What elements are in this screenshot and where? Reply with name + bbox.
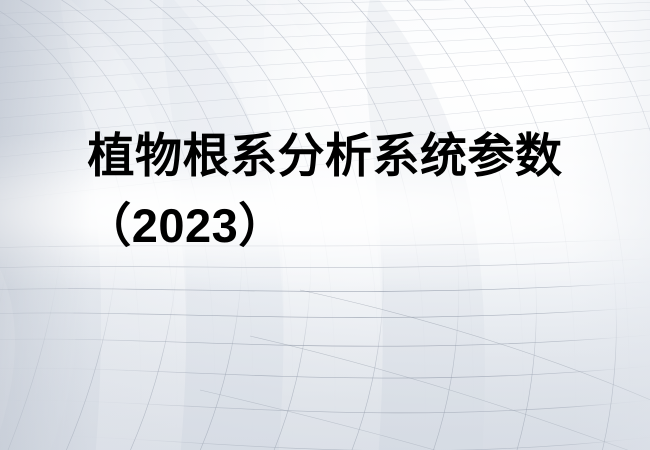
- title-block: 植物根系分析系统参数 （2023）: [0, 126, 650, 256]
- page-title: 植物根系分析系统参数: [0, 126, 650, 186]
- mesh-accent-seams: [200, 290, 650, 450]
- mesh-grid-vertical: [0, 233, 650, 450]
- page-subtitle-year: （2023）: [0, 196, 650, 256]
- mesh-fold-highlights: [0, 235, 75, 450]
- mesh-grid-horizontal: [0, 238, 650, 450]
- title-slide: 植物根系分析系统参数 （2023）: [0, 0, 650, 450]
